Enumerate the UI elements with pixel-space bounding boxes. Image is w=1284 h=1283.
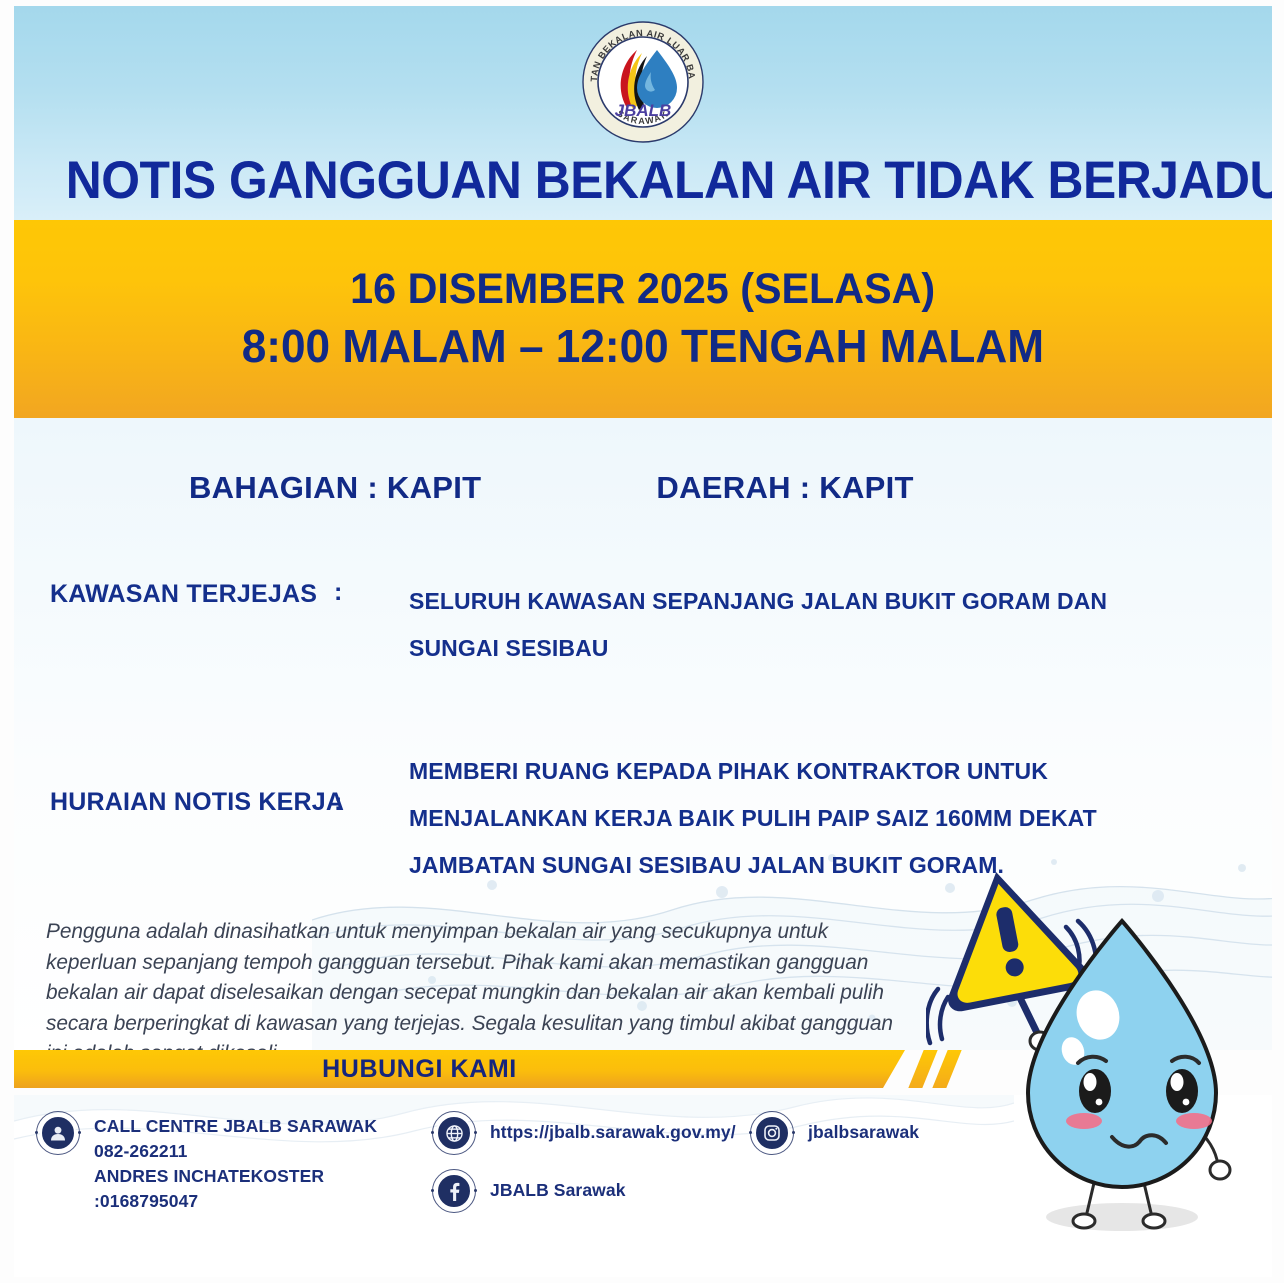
instagram-handle: jbalbsarawak [808,1111,919,1145]
call-centre-line-1: CALL CENTRE JBALB SARAWAK [94,1114,377,1139]
kawasan-line-1: SELURUH KAWASAN SEPANJANG JALAN BUKIT GO… [409,578,1272,625]
notice-date: 16 DISEMBER 2025 (SELASA) [350,265,935,314]
huraian-notis-kerja-colon: : [334,748,409,817]
call-centre-line-2: 082-262211 [94,1139,377,1164]
facebook-page-name: JBALB Sarawak [490,1169,626,1203]
kawasan-line-2: SUNGAI SESIBAU [409,625,1272,672]
huraian-line-2: MENJALANKAN KERJA BAIK PULIH PAIP SAIZ 1… [409,795,1272,842]
page-title: NOTIS GANGGUAN BEKALAN AIR TIDAK BERJADU… [66,154,1249,207]
advisory-paragraph: Pengguna adalah dinasihatkan untuk menyi… [46,916,900,1050]
facebook-icon [432,1169,476,1213]
contact-call-centre[interactable]: CALL CENTRE JBALB SARAWAK 082-262211 AND… [36,1111,377,1213]
call-centre-text: CALL CENTRE JBALB SARAWAK 082-262211 AND… [94,1111,377,1213]
instagram-icon [750,1111,794,1155]
huraian-notis-kerja-label: HURAIAN NOTIS KERJA [14,748,334,817]
contact-bar: HUBUNGI KAMI [14,1050,905,1088]
call-centre-line-3: ANDRES INCHATEKOSTER [94,1164,377,1189]
date-time-band: 16 DISEMBER 2025 (SELASA) 8:00 MALAM – 1… [14,220,1272,418]
daerah-label: DAERAH : KAPIT [656,470,913,506]
poster-footer: CALL CENTRE JBALB SARAWAK 082-262211 AND… [14,1095,1272,1277]
poster-body: BAHAGIAN : KAPIT DAERAH : KAPIT KAWASAN … [14,418,1272,1050]
region-row: BAHAGIAN : KAPIT DAERAH : KAPIT [14,470,1272,506]
water-disruption-notice-poster: JABATAN BEKALAN AIR LUAR BANDAR SARAWAK … [0,0,1284,1283]
person-icon [36,1111,80,1155]
field-kawasan-terjejas: KAWASAN TERJEJAS : SELURUH KAWASAN SEPAN… [14,578,1272,672]
logo-center-text: JBALB [615,101,672,120]
contact-facebook[interactable]: JBALB Sarawak [432,1169,626,1213]
contact-bar-title: HUBUNGI KAMI [322,1055,517,1084]
bahagian-label: BAHAGIAN : KAPIT [189,470,481,506]
field-huraian-notis-kerja: HURAIAN NOTIS KERJA : MEMBERI RUANG KEPA… [14,748,1272,889]
kawasan-terjejas-label: KAWASAN TERJEJAS [14,578,334,609]
kawasan-terjejas-colon: : [334,578,409,607]
bar-stripe-2 [932,1050,961,1088]
call-centre-line-4: :0168795047 [94,1189,377,1214]
contact-website[interactable]: https://jbalb.sarawak.gov.my/ [432,1111,736,1155]
website-url: https://jbalb.sarawak.gov.my/ [490,1111,736,1145]
notice-time: 8:00 MALAM – 12:00 TENGAH MALAM [242,320,1044,373]
huraian-notis-kerja-value: MEMBERI RUANG KEPADA PIHAK KONTRAKTOR UN… [409,748,1272,889]
huraian-line-1: MEMBERI RUANG KEPADA PIHAK KONTRAKTOR UN… [409,748,1272,795]
jbalb-logo: JABATAN BEKALAN AIR LUAR BANDAR SARAWAK … [581,20,705,144]
poster-header: JABATAN BEKALAN AIR LUAR BANDAR SARAWAK … [14,6,1272,220]
globe-icon [432,1111,476,1155]
kawasan-terjejas-value: SELURUH KAWASAN SEPANJANG JALAN BUKIT GO… [409,578,1272,672]
huraian-line-3: JAMBATAN SUNGAI SESIBAU JALAN BUKIT GORA… [409,842,1272,889]
contact-instagram[interactable]: jbalbsarawak [750,1111,919,1155]
